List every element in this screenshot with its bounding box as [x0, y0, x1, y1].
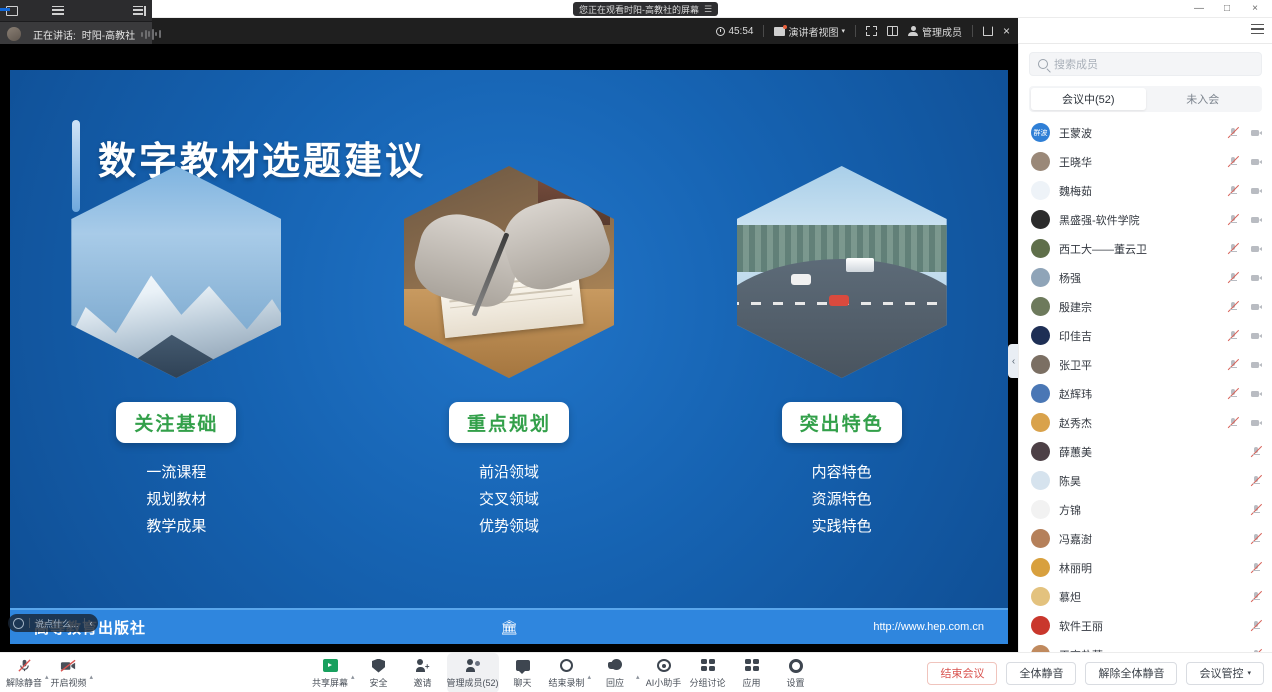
participant-row[interactable]: 冯嘉澍: [1019, 524, 1272, 553]
search-wrapper: 搜索成员: [1019, 44, 1272, 80]
hud-list-icon[interactable]: [52, 6, 64, 16]
meeting-app-window: — □ × 您正在观看时阳-高教社的屏幕 ☰ 45:54 演讲者视图 ▾: [0, 0, 1272, 692]
divider: [84, 618, 85, 628]
mic-off-icon: [17, 658, 32, 674]
camera-off-icon[interactable]: [1250, 388, 1262, 400]
bullet-item: 实践特色: [812, 513, 872, 540]
participant-name: 黑盛强-软件学院: [1059, 212, 1140, 228]
breakout-rooms-label: 分组讨论: [690, 676, 726, 689]
reaction-icon: [608, 658, 622, 674]
ai-assistant-icon: [657, 658, 671, 674]
participant-row[interactable]: 殷建宗: [1019, 292, 1272, 321]
mic-off-icon[interactable]: [1227, 185, 1239, 197]
shield-icon: [372, 658, 385, 674]
people-icon: [465, 658, 480, 674]
avatar: [1031, 152, 1050, 171]
invite-label: 邀请: [414, 676, 432, 689]
hexagon-image-wrap: [71, 166, 281, 378]
slide-column: 关注基础 一流课程 规划教材 教学成果: [10, 166, 343, 606]
participant-row[interactable]: 黑盛强-软件学院: [1019, 205, 1272, 234]
bottom-bar-right-controls: 结束会议 全体静音 解除全体静音 会议管控 ▾: [927, 653, 1264, 692]
ai-assistant-label: AI小助手: [646, 676, 682, 689]
participant-row[interactable]: 西工大——董云卫: [1019, 234, 1272, 263]
camera-control-group[interactable]: 开启视频 ▴: [49, 653, 94, 692]
avatar: [1031, 529, 1050, 548]
view-mode-label: 演讲者视图: [788, 24, 838, 39]
reaction-label: 回应: [606, 676, 624, 689]
avatar: [1031, 297, 1050, 316]
speaker-view-icon: [774, 27, 785, 36]
avatar: [1031, 326, 1050, 345]
participant-status-icons: [1227, 359, 1262, 371]
fullscreen-button[interactable]: [866, 26, 877, 36]
hud-accent-bar: [0, 8, 10, 11]
chevron-up-icon[interactable]: ▴: [588, 673, 592, 692]
breakout-rooms-icon: [701, 658, 715, 674]
avatar: [1031, 558, 1050, 577]
camera-off-icon[interactable]: [1250, 185, 1262, 197]
mic-off-icon[interactable]: [1227, 417, 1239, 429]
participant-row[interactable]: 张卫平: [1019, 350, 1272, 379]
divider: [29, 618, 30, 628]
participant-name: 软件王丽: [1059, 618, 1103, 634]
camera-off-icon[interactable]: [1250, 417, 1262, 429]
avatar: [1031, 587, 1050, 606]
active-speaker-indicator: 正在讲话: 时阳-高教社: [0, 22, 152, 46]
mic-off-icon[interactable]: [1250, 504, 1262, 516]
invite-person-icon: +: [416, 658, 430, 674]
mic-off-icon[interactable]: [1227, 214, 1239, 226]
mic-off-icon[interactable]: [1227, 156, 1239, 168]
participant-name: 赵秀杰: [1059, 415, 1092, 431]
participant-row[interactable]: 慕炟: [1019, 582, 1272, 611]
bullet-item: 交叉领域: [479, 486, 539, 513]
mute-all-button[interactable]: 全体静音: [1006, 662, 1076, 685]
unmute-all-button[interactable]: 解除全体静音: [1085, 662, 1177, 685]
chat-input-placeholder: 说点什么...: [35, 617, 79, 630]
bullet-item: 教学成果: [146, 513, 206, 540]
popout-button[interactable]: [983, 26, 993, 36]
popout-icon: [983, 26, 993, 36]
bullet-item: 一流课程: [146, 459, 206, 486]
hud-toolbar: [0, 0, 152, 22]
fullscreen-icon: [866, 26, 877, 36]
security-label: 安全: [370, 676, 388, 689]
close-button[interactable]: ×: [1242, 0, 1268, 18]
camera-off-icon[interactable]: [1250, 127, 1262, 139]
reaction-group[interactable]: 回应 ▴: [595, 653, 640, 692]
divider: [763, 25, 764, 37]
participant-status-icons: [1227, 243, 1262, 255]
settings-label: 设置: [787, 676, 805, 689]
camera-off-icon[interactable]: [1250, 301, 1262, 313]
participant-name: 林丽明: [1059, 560, 1092, 576]
publisher-url: http://www.hep.com.cn: [873, 621, 984, 633]
clock-icon: [716, 27, 725, 36]
slide-footer: 高等教育出版社 🏛 http://www.hep.com.cn: [10, 608, 1008, 644]
participant-status-icons: [1250, 475, 1262, 487]
share-banner-text: 您正在观看时阳-高教社的屏幕: [579, 3, 699, 16]
participant-status-icons: [1250, 504, 1262, 516]
participant-row[interactable]: 方锦: [1019, 495, 1272, 524]
camera-off-icon[interactable]: [1250, 272, 1262, 284]
mic-off-icon[interactable]: [1250, 475, 1262, 487]
mic-off-icon[interactable]: [1250, 533, 1262, 545]
floating-chat-input[interactable]: 说点什么... ‹: [8, 614, 98, 632]
speaking-prefix: 正在讲话:: [33, 27, 76, 42]
chevron-left-icon[interactable]: ‹: [90, 618, 93, 628]
mic-control-group[interactable]: 解除静音 ▴: [4, 653, 49, 692]
split-view-icon: [887, 26, 898, 36]
column-badge: 突出特色: [782, 402, 902, 443]
participant-status-icons: [1250, 446, 1262, 458]
mic-off-icon[interactable]: [1227, 243, 1239, 255]
meeting-timer-value: 45:54: [728, 26, 753, 37]
participant-name: 杨强: [1059, 270, 1081, 286]
avatar: [1031, 442, 1050, 461]
slide-column: 突出特色 内容特色 资源特色 实践特色: [675, 166, 1008, 606]
close-icon: ×: [1003, 25, 1010, 37]
shared-screen-stage: 数字教材选题建议 关注基础 一流课程 规划教材 教学成果: [0, 44, 1018, 652]
share-screen-button[interactable]: 共享屏幕: [310, 653, 350, 692]
slide-columns: 关注基础 一流课程 规划教材 教学成果: [10, 166, 1008, 606]
bottom-bar-left-controls: 解除静音 ▴ 开启视频 ▴: [4, 653, 93, 692]
avatar: [1031, 616, 1050, 635]
participant-status-icons: [1250, 591, 1262, 603]
participant-status-icons: [1227, 272, 1262, 284]
camera-off-icon[interactable]: [1250, 330, 1262, 342]
participant-name: 印佳吉: [1059, 328, 1092, 344]
search-placeholder: 搜索成员: [1054, 56, 1098, 72]
mic-off-icon[interactable]: [1227, 359, 1239, 371]
avatar: [1031, 210, 1050, 229]
bullet-item: 前沿领域: [479, 459, 539, 486]
breakout-rooms-button[interactable]: 分组讨论: [688, 653, 728, 692]
participant-name: 冯嘉澍: [1059, 531, 1092, 547]
mic-off-icon[interactable]: [1250, 591, 1262, 603]
meeting-topbar-controls: 45:54 演讲者视图 ▾ 管理成员: [716, 18, 1018, 44]
hands-writing-hexagon-image: [404, 166, 614, 378]
participant-name: 王蒙波: [1059, 125, 1092, 141]
participant-row[interactable]: 杨强: [1019, 263, 1272, 292]
apps-button[interactable]: 应用: [732, 653, 772, 692]
meeting-timer: 45:54: [716, 26, 753, 37]
participant-row[interactable]: 赵秀杰: [1019, 408, 1272, 437]
participant-name: 陈昊: [1059, 473, 1081, 489]
participant-name: 薛蕙美: [1059, 444, 1092, 460]
chat-label: 聊天: [514, 676, 532, 689]
avatar: [1031, 413, 1050, 432]
avatar: [1031, 384, 1050, 403]
participant-status-icons: [1227, 127, 1262, 139]
participant-name: 西工大——董云卫: [1059, 241, 1147, 257]
participant-status-icons: [1227, 214, 1262, 226]
search-icon: [1038, 59, 1048, 69]
view-mode-selector[interactable]: 演讲者视图 ▾: [774, 24, 845, 39]
emoji-icon[interactable]: [13, 618, 24, 629]
hud-panel-toggle-icon[interactable]: [133, 6, 146, 16]
bottom-bar-center-controls: 共享屏幕 ▴ 安全 + 邀请 管理成员(52) 聊天: [310, 653, 816, 692]
minimize-button[interactable]: —: [1186, 0, 1212, 18]
bullet-item: 优势领域: [479, 513, 539, 540]
end-meeting-button[interactable]: 结束会议: [927, 662, 997, 685]
slide-column: 重点规划 前沿领域 交叉领域 优势领域: [343, 166, 676, 606]
unmute-button[interactable]: 解除静音: [4, 653, 44, 692]
camera-off-icon[interactable]: [1250, 214, 1262, 226]
reaction-button[interactable]: 回应: [595, 653, 635, 692]
participant-status-icons: [1250, 562, 1262, 574]
divider: [972, 25, 973, 37]
publisher-mark-icon: 🏛: [500, 619, 518, 636]
camera-off-icon[interactable]: [1250, 156, 1262, 168]
participant-name: 张卫平: [1059, 357, 1092, 373]
avatar: [1031, 181, 1050, 200]
column-bullets: 一流课程 规划教材 教学成果: [146, 459, 206, 540]
record-circle-icon: [560, 658, 573, 674]
snow-mountain-hexagon-image: [71, 166, 281, 378]
close-share-button[interactable]: ×: [1003, 25, 1010, 37]
mic-off-icon[interactable]: [1250, 446, 1262, 458]
stop-recording-button[interactable]: 结束录制: [547, 653, 587, 692]
column-bullets: 内容特色 资源特色 实践特色: [812, 459, 872, 540]
avatar: [1031, 239, 1050, 258]
avatar: [1031, 268, 1050, 287]
mic-off-icon[interactable]: [1227, 388, 1239, 400]
start-video-button[interactable]: 开启视频: [49, 653, 89, 692]
bullet-item: 规划教材: [146, 486, 206, 513]
participants-list[interactable]: 群波王蒙波王晓华魏梅茹黑盛强-软件学院西工大——董云卫杨强殷建宗印佳吉张卫平赵辉…: [1019, 118, 1272, 663]
participant-status-icons: [1227, 185, 1262, 197]
participants-tabs: 会议中(52) 未入会: [1029, 86, 1262, 112]
camera-off-icon[interactable]: [1250, 359, 1262, 371]
participant-name: 王晓华: [1059, 154, 1092, 170]
column-badge: 重点规划: [449, 402, 569, 443]
unmute-label: 解除静音: [6, 676, 42, 689]
mic-off-icon[interactable]: [1227, 272, 1239, 284]
chat-button[interactable]: 聊天: [503, 653, 543, 692]
participant-name: 慕炟: [1059, 589, 1081, 605]
bullet-item: 资源特色: [812, 486, 872, 513]
participant-status-icons: [1250, 533, 1262, 545]
share-screen-icon: [323, 658, 338, 674]
chevron-down-icon: ▾: [841, 27, 845, 35]
camera-off-icon[interactable]: [1250, 243, 1262, 255]
apps-grid-icon: [745, 658, 759, 674]
participant-status-icons: [1227, 301, 1262, 313]
participant-status-icons: [1227, 417, 1262, 429]
apps-label: 应用: [743, 676, 761, 689]
tab-not-joined[interactable]: 未入会: [1146, 88, 1261, 110]
panel-header-strip: [1018, 18, 1272, 44]
mic-off-icon[interactable]: [1250, 562, 1262, 574]
stop-recording-label: 结束录制: [549, 676, 585, 689]
speaker-name: 时阳-高教社: [82, 27, 135, 42]
screen-share-banner: 您正在观看时阳-高教社的屏幕 ☰: [573, 2, 718, 16]
security-button[interactable]: 安全: [359, 653, 399, 692]
participant-status-icons: [1250, 620, 1262, 632]
mic-off-icon[interactable]: [1227, 127, 1239, 139]
share-screen-group[interactable]: 共享屏幕 ▴: [310, 653, 355, 692]
manage-members-topbar-button[interactable]: 管理成员: [908, 24, 962, 39]
participant-row[interactable]: 印佳吉: [1019, 321, 1272, 350]
participant-row[interactable]: 薛蕙美: [1019, 437, 1272, 466]
avatar: 群波: [1031, 123, 1050, 142]
invite-button[interactable]: + 邀请: [403, 653, 443, 692]
speaker-avatar: [7, 27, 21, 41]
column-bullets: 前沿领域 交叉领域 优势领域: [479, 459, 539, 540]
participant-status-icons: [1227, 330, 1262, 342]
meeting-bottom-bar: 解除静音 ▴ 开启视频 ▴ 共享屏幕 ▴: [0, 652, 1272, 692]
participant-row[interactable]: 王晓华: [1019, 147, 1272, 176]
maximize-button[interactable]: □: [1214, 0, 1240, 18]
manage-members-label: 管理成员(52): [447, 676, 499, 689]
mic-off-icon[interactable]: [1250, 620, 1262, 632]
participant-row[interactable]: 魏梅茹: [1019, 176, 1272, 205]
tab-in-meeting[interactable]: 会议中(52): [1031, 88, 1146, 110]
participant-row[interactable]: 软件王丽: [1019, 611, 1272, 640]
chat-bubble-icon: [516, 658, 530, 674]
manage-members-label: 管理成员: [922, 24, 962, 39]
settings-button[interactable]: 设置: [776, 653, 816, 692]
chevron-down-icon: ▾: [1247, 669, 1251, 677]
participant-status-icons: [1227, 388, 1262, 400]
gear-icon: [789, 658, 803, 674]
audio-wave-icon: [141, 28, 161, 40]
participant-name: 赵辉玮: [1059, 386, 1092, 402]
avatar: [1031, 471, 1050, 490]
recording-group[interactable]: 结束录制 ▴: [547, 653, 592, 692]
mic-off-icon[interactable]: [1227, 330, 1239, 342]
participant-name: 魏梅茹: [1059, 183, 1092, 199]
chevron-up-icon[interactable]: ▴: [636, 673, 640, 692]
manage-members-button[interactable]: 管理成员(52): [447, 653, 499, 692]
avatar: [1031, 500, 1050, 519]
meeting-control-label: 会议管控: [1199, 665, 1243, 681]
hexagon-image-wrap: [737, 166, 947, 378]
participant-row[interactable]: 赵辉玮: [1019, 379, 1272, 408]
chevron-up-icon[interactable]: ▴: [351, 673, 355, 692]
participant-name: 方锦: [1059, 502, 1081, 518]
camera-off-icon: [60, 658, 77, 674]
participant-row[interactable]: 林丽明: [1019, 553, 1272, 582]
search-input[interactable]: 搜索成员: [1029, 52, 1262, 76]
highway-traffic-hexagon-image: [737, 166, 947, 378]
participant-status-icons: [1227, 156, 1262, 168]
participant-row[interactable]: 群波王蒙波: [1019, 118, 1272, 147]
chevron-up-icon[interactable]: ▴: [90, 673, 94, 692]
divider: [855, 25, 856, 37]
share-screen-label: 共享屏幕: [312, 676, 348, 689]
window-controls: — □ ×: [1186, 0, 1268, 18]
people-icon: [908, 26, 919, 36]
meeting-control-button[interactable]: 会议管控 ▾: [1186, 662, 1264, 685]
split-view-button[interactable]: [887, 26, 898, 36]
participant-name: 殷建宗: [1059, 299, 1092, 315]
hexagon-image-wrap: [404, 166, 614, 378]
bullet-item: 内容特色: [812, 459, 872, 486]
participants-panel: 搜索成员 会议中(52) 未入会 群波王蒙波王晓华魏梅茹黑盛强-软件学院西工大—…: [1018, 44, 1272, 652]
share-banner-menu-icon[interactable]: ☰: [704, 4, 712, 15]
panel-menu-icon[interactable]: [1251, 24, 1264, 35]
column-badge: 关注基础: [116, 402, 236, 443]
ai-assistant-button[interactable]: AI小助手: [644, 653, 684, 692]
avatar: [1031, 355, 1050, 374]
presentation-slide: 数字教材选题建议 关注基础 一流课程 规划教材 教学成果: [10, 70, 1008, 644]
mic-off-icon[interactable]: [1227, 301, 1239, 313]
participant-row[interactable]: 陈昊: [1019, 466, 1272, 495]
start-video-label: 开启视频: [51, 676, 87, 689]
